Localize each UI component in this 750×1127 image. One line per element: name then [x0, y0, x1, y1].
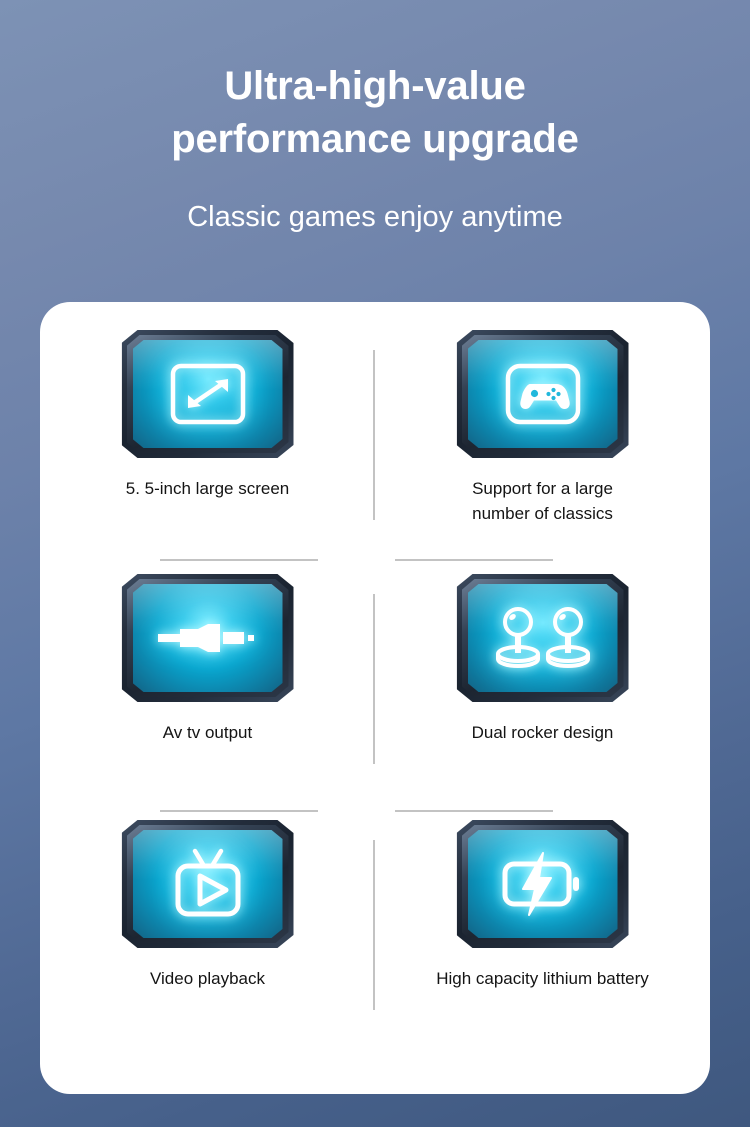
feature-label: Av tv output	[40, 720, 375, 745]
feature-item-av-output[interactable]: Av tv output	[40, 574, 375, 745]
divider-horizontal-row2-left	[160, 810, 318, 812]
expand-arrows-icon	[122, 330, 294, 458]
dual-joystick-icon	[457, 574, 629, 702]
feature-tile	[40, 330, 375, 458]
feature-item-video-playback[interactable]: Video playback	[40, 820, 375, 991]
av-plug-icon	[122, 574, 294, 702]
feature-tile	[375, 820, 710, 948]
feature-item-dual-rocker[interactable]: Dual rocker design	[375, 574, 710, 745]
feature-label: High capacity lithium battery	[375, 966, 710, 991]
divider-horizontal-row1-left	[160, 559, 318, 561]
page-title-line1: Ultra-high-value	[0, 60, 750, 113]
feature-item-battery[interactable]: High capacity lithium battery	[375, 820, 710, 991]
divider-vertical-row2	[373, 594, 375, 764]
gamepad-icon	[457, 330, 629, 458]
feature-tile	[40, 820, 375, 948]
feature-item-large-screen[interactable]: 5. 5-inch large screen	[40, 330, 375, 501]
feature-tile	[40, 574, 375, 702]
page-subtitle: Classic games enjoy anytime	[0, 166, 750, 236]
feature-item-classics[interactable]: Support for a large number of classics	[375, 330, 710, 526]
tv-play-icon	[122, 820, 294, 948]
divider-vertical-row1	[373, 350, 375, 520]
feature-card: 5. 5-inch large screen	[40, 302, 710, 1094]
feature-label: Video playback	[40, 966, 375, 991]
feature-grid: 5. 5-inch large screen	[40, 302, 710, 1094]
feature-label: Dual rocker design	[375, 720, 710, 745]
feature-label: 5. 5-inch large screen	[40, 476, 375, 501]
divider-horizontal-row1-right	[395, 559, 553, 561]
product-feature-page: Ultra-high-value performance upgrade Cla…	[0, 0, 750, 1127]
page-title-line2: performance upgrade	[0, 113, 750, 166]
battery-bolt-icon	[457, 820, 629, 948]
feature-tile	[375, 574, 710, 702]
page-header: Ultra-high-value performance upgrade Cla…	[0, 0, 750, 236]
divider-vertical-row3	[373, 840, 375, 1010]
divider-horizontal-row2-right	[395, 810, 553, 812]
feature-tile	[375, 330, 710, 458]
feature-label: Support for a large number of classics	[375, 476, 710, 526]
